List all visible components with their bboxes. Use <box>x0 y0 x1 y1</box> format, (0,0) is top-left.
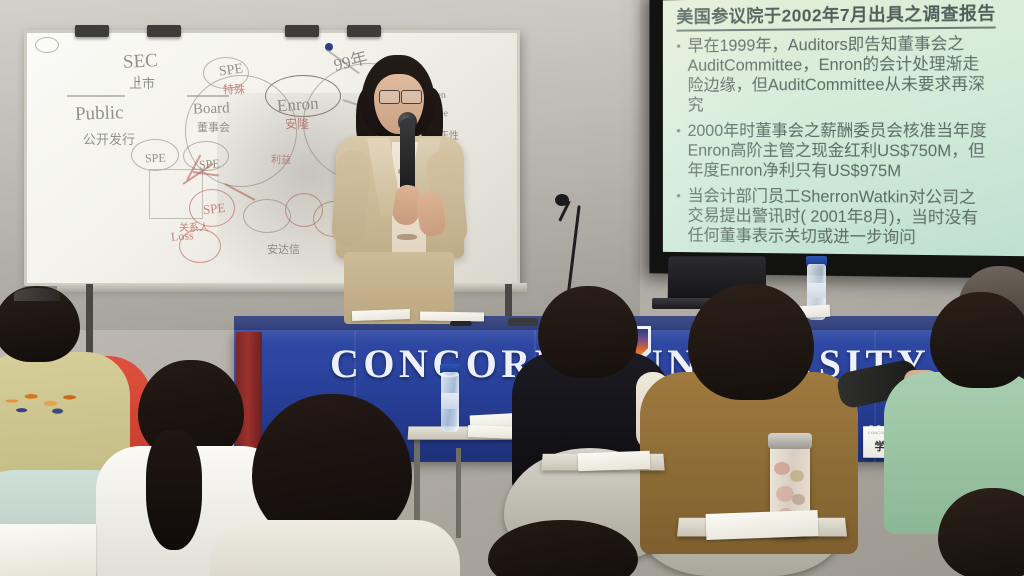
water-bottle-icon <box>440 364 460 432</box>
bullet-line: 交易提出警讯时( 2001年8月)，当时没有 <box>688 206 979 226</box>
projection-screen: 美国参议院于2002年7月出具之调查报告 • 早在1999年，Auditors即… <box>663 0 1024 257</box>
whiteboard-clip <box>147 25 181 37</box>
bullet-line: Enron高阶主管之现金红利US$750M，但 <box>688 142 985 161</box>
whiteboard-clip <box>347 25 381 37</box>
bullet-line: 险边缘，但AuditCommittee从未要求再深 <box>688 75 985 94</box>
slide-title: 美国参议院于2002年7月出具之调查报告 <box>676 0 995 32</box>
bullet-marker: • <box>676 187 680 246</box>
whiteboard-note: Public <box>75 102 124 126</box>
audience-head <box>538 286 638 378</box>
whiteboard-marker-tray <box>57 283 527 292</box>
audience-person <box>210 520 460 576</box>
slide-bullet: • 当会计部门员工SherronWatkin对公司之 交易提出警讯时( 2001… <box>676 187 1024 250</box>
gooseneck-microphone-icon <box>555 194 569 206</box>
remote-control-icon <box>508 318 538 326</box>
audience-head <box>930 292 1024 388</box>
paper-sheet <box>706 510 819 540</box>
hair-clip-icon <box>14 288 60 301</box>
whiteboard-note: SPE <box>145 151 166 167</box>
bullet-marker: • <box>676 37 680 116</box>
bullet-line: 当会计部门员工SherronWatkin对公司之 <box>688 187 976 207</box>
slide-bullet: • 2000年时董事会之薪酬委员会核准当年度 Enron高阶主管之现金红利US$… <box>676 122 1024 183</box>
whiteboard-clip <box>285 25 319 37</box>
projection-screen-frame: 美国参议院于2002年7月出具之调查报告 • 早在1999年，Auditors即… <box>649 0 1024 279</box>
whiteboard-note: 关系人 <box>179 219 209 234</box>
paper-sheet <box>352 309 410 321</box>
bullet-text: 当会计部门员工SherronWatkin对公司之 交易提出警讯时( 2001年8… <box>688 187 979 249</box>
bullet-line: 任何董事表示关切或进一步询问 <box>688 226 916 246</box>
whiteboard-note: SEC <box>122 50 158 74</box>
bullet-line: 究 <box>688 96 704 114</box>
eyeglasses-icon <box>401 90 422 104</box>
sketch-oval <box>35 37 59 53</box>
slide-bullet: • 早在1999年，Auditors即告知董事会之 AuditCommittee… <box>676 34 1024 116</box>
bullet-line: 年度Enron净利只有US$975M <box>688 161 902 180</box>
paper-sheet <box>578 451 651 472</box>
paper-sheet <box>0 524 96 576</box>
whiteboard-note: 公开发行 <box>83 129 135 148</box>
embroidery-pattern <box>0 378 108 424</box>
bullet-line: 早在1999年，Auditors即告知董事会之 <box>688 35 965 55</box>
audience-head <box>688 284 814 400</box>
sketch-line <box>67 95 125 97</box>
eyeglasses-icon <box>379 90 400 104</box>
whiteboard-marker-icon <box>450 321 472 326</box>
speaker-arm <box>331 149 372 247</box>
bullet-line: AuditCommittee，Enron的会计处理渐走 <box>688 55 980 75</box>
whiteboard-note: 上市 <box>129 73 155 92</box>
whiteboard-note: SPE <box>218 61 244 80</box>
bullet-text: 早在1999年，Auditors即告知董事会之 AuditCommittee，E… <box>688 35 985 116</box>
desk-leg <box>456 448 461 538</box>
bullet-text: 2000年时董事会之薪酬委员会核准当年度 Enron高阶主管之现金红利US$75… <box>688 122 987 183</box>
whiteboard-clip <box>75 25 109 37</box>
bullet-marker: • <box>676 122 680 181</box>
bullet-line: 2000年时董事会之薪酬委员会核准当年度 <box>688 122 987 140</box>
ponytail <box>146 430 202 550</box>
lecture-photo: SEC上市Public公开发行Board董事会Enron安隆SPE特殊SPESP… <box>0 0 1024 576</box>
presentation-slide: 美国参议院于2002年7月出具之调查报告 • 早在1999年，Auditors即… <box>663 0 1024 250</box>
